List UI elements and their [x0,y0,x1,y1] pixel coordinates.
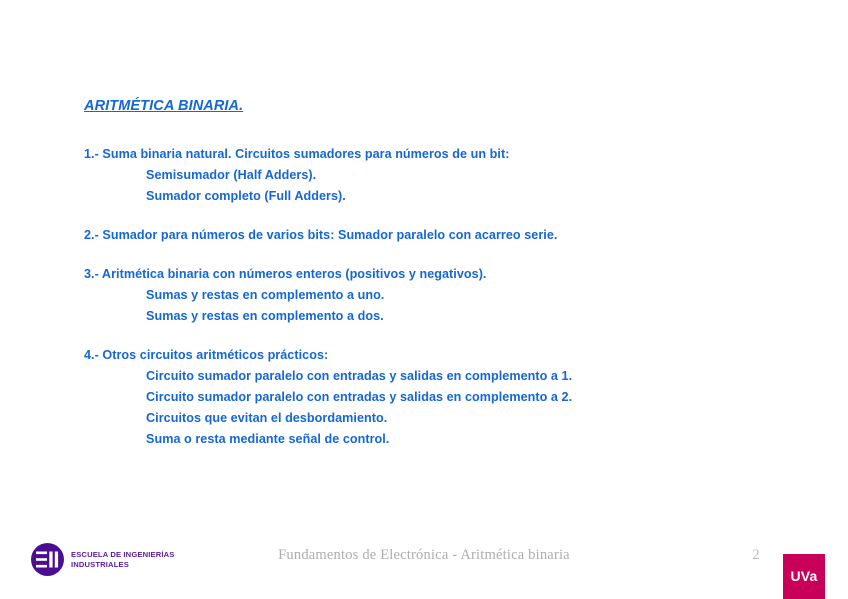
page-title: ARITMÉTICA BINARIA. [84,96,243,116]
slide-footer: ESCUELA DE INGENIERÍAS INDUSTRIALES Fund… [0,539,848,599]
outline-subitem: Sumador completo (Full Adders). [84,186,784,207]
uva-logo: UVa [783,554,825,599]
uva-logo-label: UVa [790,568,817,584]
outline-subitem: Circuito sumador paralelo con entradas y… [84,387,784,408]
outline-subitem: Suma o resta mediante señal de control. [84,429,784,450]
page-number: 2 [745,547,767,564]
outline-group: 4.- Otros circuitos aritméticos práctico… [84,345,784,450]
outline-heading: 1.- Suma binaria natural. Circuitos suma… [84,144,784,165]
footer-course-title: Fundamentos de Electrónica - Aritmética … [0,547,848,564]
outline-group: 3.- Aritmética binaria con números enter… [84,264,784,327]
outline-subitem: Sumas y restas en complemento a dos. [84,306,784,327]
outline-heading: 4.- Otros circuitos aritméticos práctico… [84,345,784,366]
outline-subitem: Circuito sumador paralelo con entradas y… [84,366,784,387]
outline-subitem: Sumas y restas en complemento a uno. [84,285,784,306]
slide-content: ARITMÉTICA BINARIA. 1.- Suma binaria nat… [84,96,784,450]
presentation-slide: ARITMÉTICA BINARIA. 1.- Suma binaria nat… [0,0,848,599]
outline-group: 1.- Suma binaria natural. Circuitos suma… [84,144,784,207]
outline-list: 1.- Suma binaria natural. Circuitos suma… [84,144,784,450]
outline-heading: 3.- Aritmética binaria con números enter… [84,264,784,285]
outline-subitem: Semisumador (Half Adders). [84,165,784,186]
outline-subitem: Circuitos que evitan el desbordamiento. [84,408,784,429]
outline-group: 2.- Sumador para números de varios bits:… [84,225,784,246]
outline-heading: 2.- Sumador para números de varios bits:… [84,225,784,246]
